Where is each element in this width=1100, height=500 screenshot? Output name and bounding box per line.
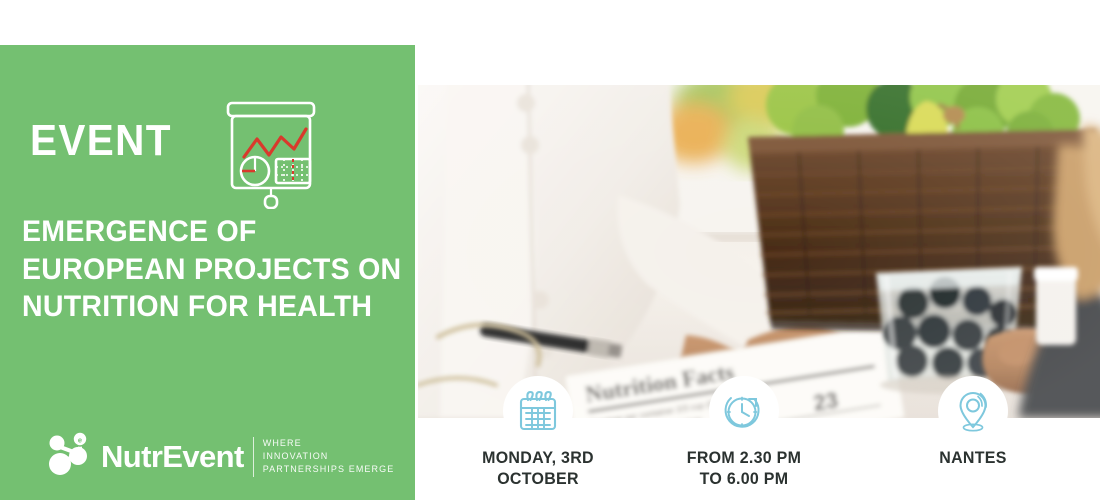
time-line-2: TO 6.00 PM: [650, 468, 838, 489]
logo-wordmark: NutrEvent: [101, 441, 244, 472]
molecule-icon: e: [48, 431, 92, 482]
detail-date-label: MONDAY, 3RD OCTOBER: [444, 447, 632, 490]
time-line-1: FROM 2.30 PM: [650, 447, 838, 468]
detail-time-label: FROM 2.30 PM TO 6.00 PM: [650, 447, 838, 490]
tagline-line-1: WHERE: [263, 437, 395, 450]
green-info-panel: EVENT EMERGENCE OF EUROPEAN: [0, 45, 415, 500]
event-kicker: EVENT: [30, 119, 172, 163]
title-line-1: EMERGENCE OF: [22, 213, 388, 251]
date-line-1: MONDAY, 3RD: [444, 447, 632, 468]
photo-illustration: Nutrition Facts Servings per container 2…: [418, 85, 1100, 418]
detail-location-label: NANTES: [879, 447, 1067, 468]
location-pin-icon: [938, 376, 1008, 446]
svg-text:e: e: [78, 436, 82, 445]
title-line-2: EUROPEAN PROJECTS ON: [22, 251, 388, 289]
location-line-1: NANTES: [879, 447, 1067, 468]
event-photo: Nutrition Facts Servings per container 2…: [418, 85, 1100, 418]
logo-tagline: WHERE INNOVATION PARTNERSHIPS EMERGE: [263, 437, 395, 476]
title-line-3: NUTRITION FOR HEALTH: [22, 288, 388, 326]
page-title: EMERGENCE OF EUROPEAN PROJECTS ON NUTRIT…: [22, 213, 388, 326]
clock-icon: [709, 376, 779, 446]
calendar-icon: [503, 376, 573, 446]
nutrevent-logo[interactable]: e NutrEvent WHERE INNOVATION PARTNERSHIP…: [48, 431, 394, 482]
tagline-line-3: PARTNERSHIPS EMERGE: [263, 463, 395, 476]
logo-divider: [253, 437, 254, 477]
event-details-bar: MONDAY, 3RD OCTOBER FROM: [418, 418, 1100, 500]
presentation-chart-icon: [222, 99, 320, 214]
tagline-line-2: INNOVATION: [263, 450, 395, 463]
date-line-2: OCTOBER: [444, 468, 632, 489]
event-poster: Nutrition Facts Servings per container 2…: [0, 0, 1100, 500]
